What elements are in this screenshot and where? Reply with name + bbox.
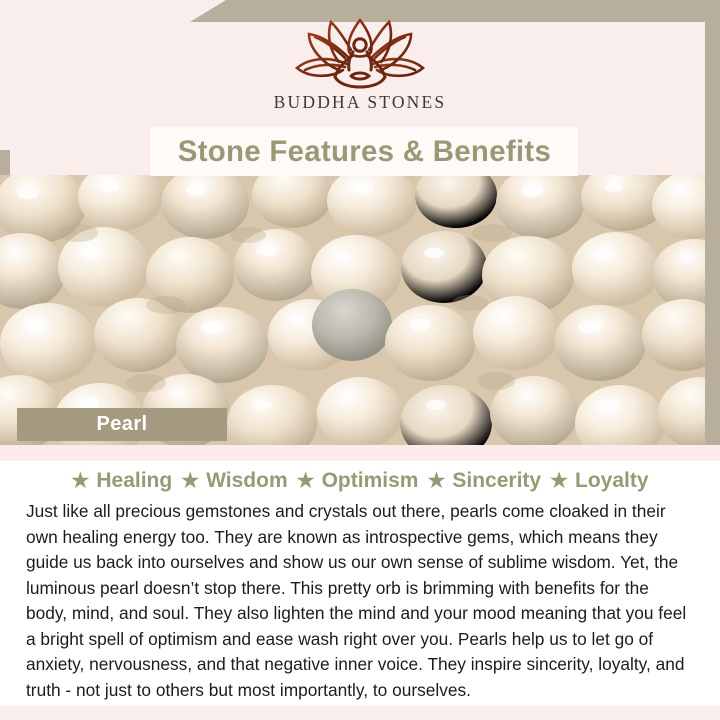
star-icon: ★ xyxy=(297,471,315,491)
brand-name: BUDDHA STONES xyxy=(274,92,447,113)
pearls-image xyxy=(0,175,705,445)
keyword-wisdom: ★ Wisdom xyxy=(172,469,287,493)
keyword-sincerity: ★ Sincerity xyxy=(418,469,541,493)
description-text: Just like all precious gemstones and cry… xyxy=(26,499,695,703)
poster-root: BUDDHA STONES Stone Features & Benefits xyxy=(0,0,720,720)
star-icon: ★ xyxy=(71,471,89,491)
stone-photo xyxy=(0,175,705,445)
brand-logo: BUDDHA STONES xyxy=(0,18,720,123)
star-icon: ★ xyxy=(427,471,445,491)
stone-name: Pearl xyxy=(97,413,148,436)
keyword-optimism: ★ Optimism xyxy=(288,469,419,493)
star-icon: ★ xyxy=(181,471,199,491)
bottom-strip xyxy=(0,706,720,720)
divider-band xyxy=(0,445,720,461)
keyword-label: Healing xyxy=(96,469,172,493)
keyword-label: Sincerity xyxy=(452,469,541,493)
star-icon: ★ xyxy=(550,471,568,491)
keyword-label: Wisdom xyxy=(206,469,287,493)
title-banner: Stone Features & Benefits xyxy=(150,127,578,176)
keyword-label: Loyalty xyxy=(575,469,649,493)
page-title: Stone Features & Benefits xyxy=(177,135,550,169)
benefit-keywords: ★ Healing ★ Wisdom ★ Optimism ★ Sincerit… xyxy=(0,461,720,493)
keyword-label: Optimism xyxy=(322,469,419,493)
lotus-meditation-icon xyxy=(285,18,435,90)
content-card: ★ Healing ★ Wisdom ★ Optimism ★ Sincerit… xyxy=(0,461,720,706)
keyword-healing: ★ Healing xyxy=(71,469,172,493)
stone-name-banner: Pearl xyxy=(17,408,227,441)
keyword-loyalty: ★ Loyalty xyxy=(541,469,648,493)
